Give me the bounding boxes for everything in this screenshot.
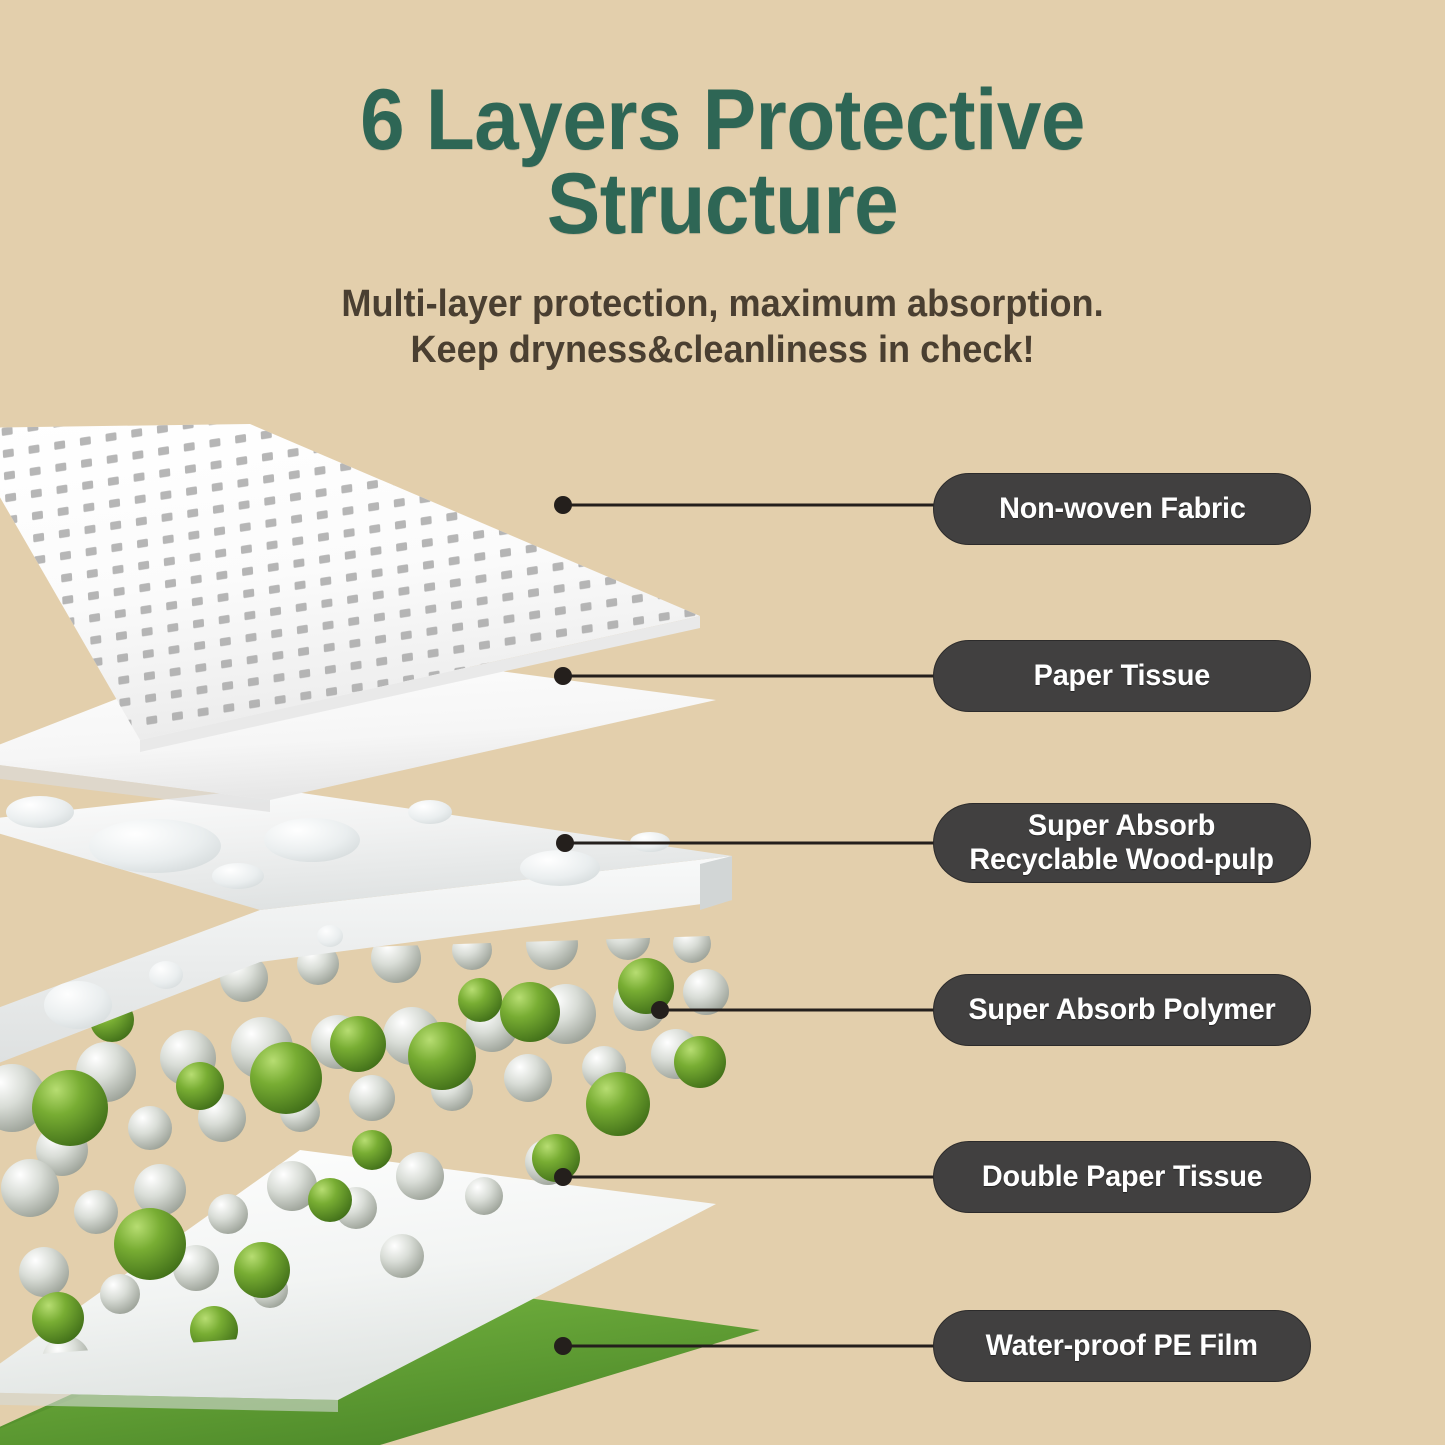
page-subtitle: Multi-layer protection, maximum absorpti…: [36, 247, 1409, 374]
label-pill-paper-tissue[interactable]: Paper Tissue: [933, 640, 1311, 712]
label-pill-non-woven-fabric[interactable]: Non-woven Fabric: [933, 473, 1311, 545]
label-pill-super-absorb-recyclable-wood-pulp[interactable]: Super Absorb Recyclable Wood-pulp: [933, 803, 1311, 883]
label-pill-water-proof-pe-film[interactable]: Water-proof PE Film: [933, 1310, 1311, 1382]
label-text: Super Absorb Polymer: [968, 993, 1275, 1027]
infographic-canvas: 6 Layers Protective Structure Multi-laye…: [0, 0, 1445, 1445]
label-text: Super Absorb Recyclable Wood-pulp: [970, 809, 1274, 876]
page-title: 6 Layers Protective Structure: [51, 78, 1395, 247]
label-text: Water-proof PE Film: [986, 1329, 1258, 1363]
label-pill-super-absorb-polymer[interactable]: Super Absorb Polymer: [933, 974, 1311, 1046]
label-text: Non-woven Fabric: [999, 492, 1246, 526]
label-text: Double Paper Tissue: [982, 1160, 1263, 1194]
heading-block: 6 Layers Protective Structure Multi-laye…: [0, 78, 1445, 373]
label-text: Paper Tissue: [1034, 659, 1210, 693]
label-pill-double-paper-tissue[interactable]: Double Paper Tissue: [933, 1141, 1311, 1213]
